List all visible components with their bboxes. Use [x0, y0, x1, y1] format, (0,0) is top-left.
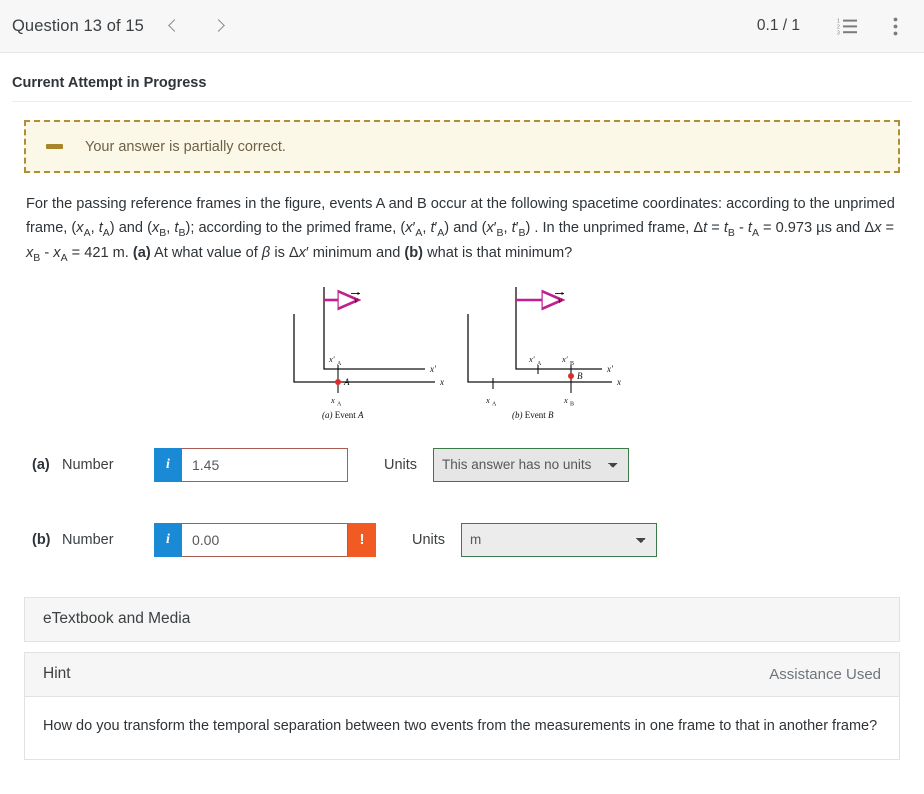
reference-frames-diagram: x x′ v A x′ A x A	[272, 281, 652, 421]
info-icon[interactable]: i	[154, 448, 182, 482]
assistance-used-label: Assistance Used	[769, 666, 881, 683]
page-title: Question 13 of 15	[12, 17, 144, 36]
answer-row-a: (a) Number i Units This answer has no un…	[12, 447, 912, 483]
hint-header[interactable]: Hint Assistance Used	[25, 653, 899, 697]
svg-text:x: x	[485, 395, 490, 405]
info-icon[interactable]: i	[154, 523, 182, 557]
svg-text:x′: x′	[606, 364, 614, 374]
question-body: For the passing reference frames in the …	[26, 193, 898, 267]
etextbook-header[interactable]: eTextbook and Media	[25, 598, 899, 641]
etextbook-title: eTextbook and Media	[43, 610, 190, 628]
svg-text:(b) Event B: (b) Event B	[512, 410, 554, 420]
svg-text:x: x	[330, 395, 335, 405]
spacetime-figure: x x′ v A x′ A x A	[12, 281, 912, 421]
question-header-bar: Question 13 of 15 0.1 / 1 1 2 3	[0, 0, 924, 53]
answer-row-b: (b) Number i ! Units m	[12, 522, 912, 558]
number-label-b: Number	[62, 532, 154, 548]
svg-text:A: A	[343, 377, 350, 387]
answer-field-group-a: i	[154, 448, 348, 482]
answer-part-label-b: (b)	[32, 532, 62, 548]
number-label-a: Number	[62, 457, 154, 473]
partial-dash-icon	[46, 144, 63, 149]
units-select-b[interactable]: m	[461, 523, 657, 557]
svg-text:B: B	[570, 361, 574, 367]
hint-title: Hint	[43, 665, 71, 683]
svg-text:B: B	[577, 371, 583, 381]
answer-input-a[interactable]	[182, 448, 348, 482]
numbered-list-icon[interactable]: 1 2 3	[834, 13, 860, 39]
attempt-status-title: Current Attempt in Progress	[12, 53, 912, 102]
kebab-menu-icon[interactable]	[882, 13, 908, 39]
partial-correct-banner: Your answer is partially correct.	[24, 120, 900, 173]
svg-text:x′: x′	[328, 354, 335, 364]
svg-text:x: x	[439, 377, 444, 387]
svg-text:A: A	[337, 361, 342, 367]
alert-message: Your answer is partially correct.	[85, 139, 286, 155]
chevron-right-icon[interactable]	[210, 17, 228, 35]
answer-rows: (a) Number i Units This answer has no un…	[12, 447, 912, 558]
chevron-left-icon[interactable]	[166, 17, 184, 35]
answer-input-b[interactable]	[182, 523, 348, 557]
svg-text:v: v	[354, 296, 359, 306]
svg-text:x: x	[616, 377, 621, 387]
units-select-a[interactable]: This answer has no units	[433, 448, 629, 482]
figure-panel-b: x x′ v x′ A x A B x′ B	[468, 287, 621, 420]
svg-text:x′: x′	[429, 364, 437, 374]
svg-text:A: A	[537, 361, 542, 367]
question-line-1: For the passing reference frames in the …	[26, 196, 830, 212]
hint-panel: Hint Assistance Used How do you transfor…	[24, 652, 900, 760]
etextbook-panel[interactable]: eTextbook and Media	[24, 597, 900, 642]
answer-part-label-a: (a)	[32, 457, 62, 473]
svg-text:v: v	[558, 296, 563, 306]
error-icon[interactable]: !	[348, 523, 376, 557]
svg-text:(a) Event A: (a) Event A	[322, 410, 364, 420]
question-content: Current Attempt in Progress Your answer …	[0, 53, 924, 760]
svg-text:A: A	[492, 401, 497, 407]
figure-panel-a: x x′ v A x′ A x A	[294, 287, 444, 420]
svg-text:3: 3	[837, 31, 840, 36]
units-label-b: Units	[412, 532, 445, 548]
svg-text:B: B	[570, 401, 574, 407]
answer-field-group-b: i !	[154, 523, 376, 557]
hint-body-text: How do you transform the temporal separa…	[25, 697, 899, 759]
svg-text:x′: x′	[561, 354, 568, 364]
question-nav	[166, 17, 228, 35]
svg-text:A: A	[337, 401, 342, 407]
units-label-a: Units	[384, 457, 417, 473]
score-display: 0.1 / 1	[757, 17, 800, 35]
svg-text:x′: x′	[528, 354, 535, 364]
svg-text:x: x	[563, 395, 568, 405]
